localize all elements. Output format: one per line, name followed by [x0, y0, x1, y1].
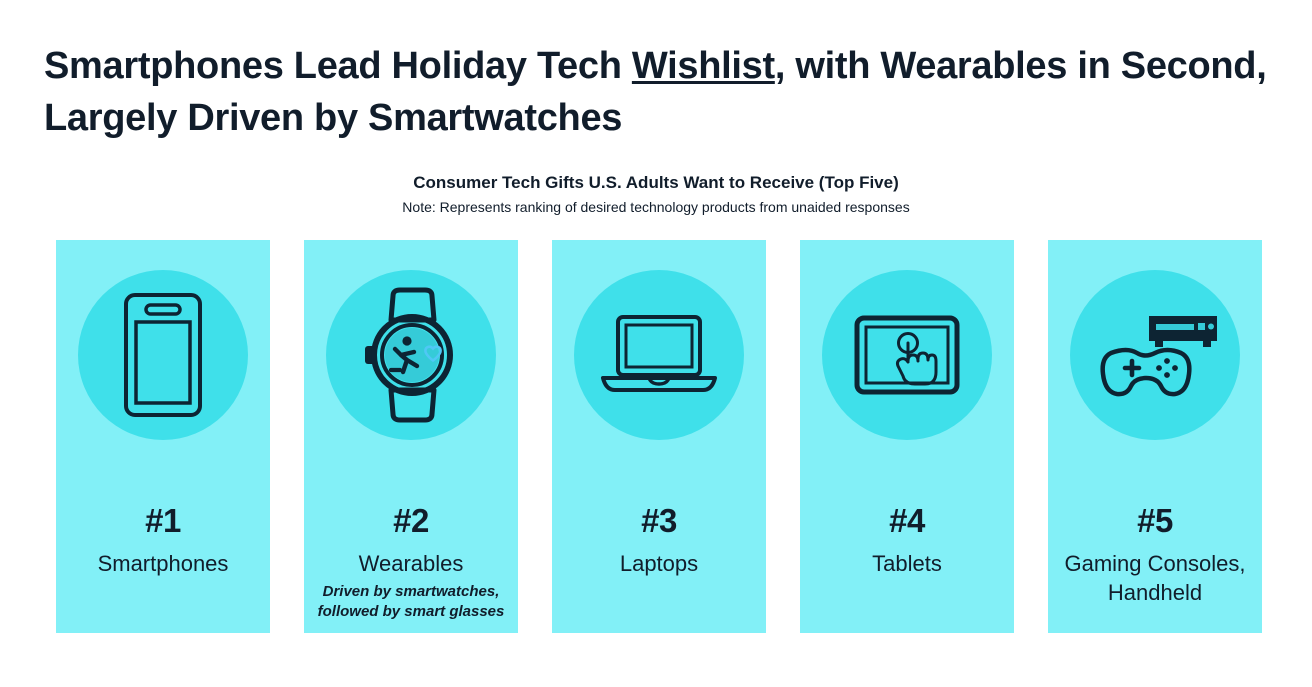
ranking-card-3: #3 Laptops	[552, 240, 766, 633]
page-title: Smartphones Lead Holiday Tech Wishlist, …	[44, 40, 1274, 145]
icon-circle	[1070, 270, 1240, 440]
chart-subtitle: Consumer Tech Gifts U.S. Adults Want to …	[0, 172, 1312, 194]
rank-number: #3	[641, 504, 677, 537]
smartwatch-icon	[351, 286, 471, 424]
game-console-icon	[1087, 308, 1223, 402]
rank-number: #4	[889, 504, 925, 537]
chart-note: Note: Represents ranking of desired tech…	[0, 198, 1312, 216]
laptop-icon	[599, 312, 719, 398]
card-label: Laptops	[614, 549, 704, 578]
card-label: Tablets	[866, 549, 948, 578]
icon-circle	[78, 270, 248, 440]
icon-circle	[822, 270, 992, 440]
tablet-touch-icon	[853, 314, 961, 396]
ranking-card-1: #1 Smartphones	[56, 240, 270, 633]
smartphone-icon	[122, 291, 204, 419]
icon-circle	[326, 270, 496, 440]
card-label: Wearables	[353, 549, 470, 578]
ranking-card-5: #5 Gaming Consoles, Handheld	[1048, 240, 1262, 633]
card-label: Smartphones	[92, 549, 235, 578]
headline-underlined-word: Wishlist	[632, 45, 775, 87]
icon-circle	[574, 270, 744, 440]
rank-number: #5	[1137, 504, 1173, 537]
rank-number: #2	[393, 504, 429, 537]
ranking-card-4: #4 Tablets	[800, 240, 1014, 633]
headline-part-1: Smartphones Lead Holiday Tech	[44, 45, 632, 87]
card-sublabel: Driven by smartwatches, followed by smar…	[304, 582, 518, 623]
card-label: Gaming Consoles, Handheld	[1048, 549, 1262, 607]
ranking-card-2: #2 Wearables Driven by smartwatches, fol…	[304, 240, 518, 633]
subtitle-block: Consumer Tech Gifts U.S. Adults Want to …	[0, 172, 1312, 216]
rank-number: #1	[145, 504, 181, 537]
ranking-cards-row: #1 Smartphones	[56, 240, 1262, 633]
